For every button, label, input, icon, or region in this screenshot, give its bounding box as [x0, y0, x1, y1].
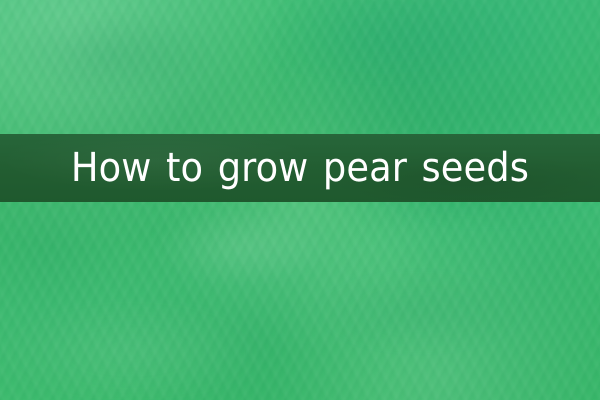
title-banner: How to grow pear seeds — [0, 134, 600, 202]
banner-title-text: How to grow pear seeds — [71, 148, 529, 188]
image-canvas: How to grow pear seeds — [0, 0, 600, 400]
